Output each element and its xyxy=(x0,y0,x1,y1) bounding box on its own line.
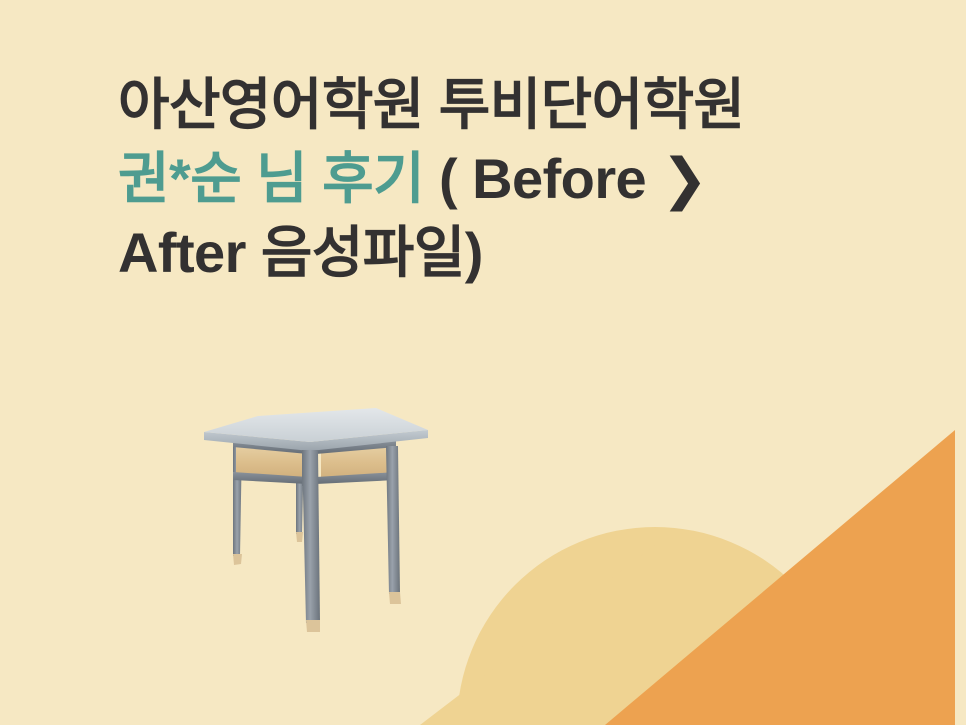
headline-line-3: After 음성파일) xyxy=(118,216,918,290)
tan-wedge-shape xyxy=(420,545,655,725)
headline-line-2-dark: ( Before ❯ xyxy=(424,147,707,210)
headline-line-2: 권*순 님 후기 ( Before ❯ xyxy=(118,142,918,216)
headline-line-1: 아산영어학원 투비단어학원 xyxy=(118,68,918,142)
poster-headline: 아산영어학원 투비단어학원 권*순 님 후기 ( Before ❯ After … xyxy=(118,68,918,290)
school-desk-illustration xyxy=(196,404,432,634)
orange-wedge-shape xyxy=(605,430,955,725)
tan-circle-shape xyxy=(457,527,853,725)
poster-canvas: 아산영어학원 투비단어학원 권*순 님 후기 ( Before ❯ After … xyxy=(0,0,966,725)
school-desk-svg xyxy=(196,404,432,634)
headline-line-2-teal: 권*순 님 후기 xyxy=(118,147,424,210)
